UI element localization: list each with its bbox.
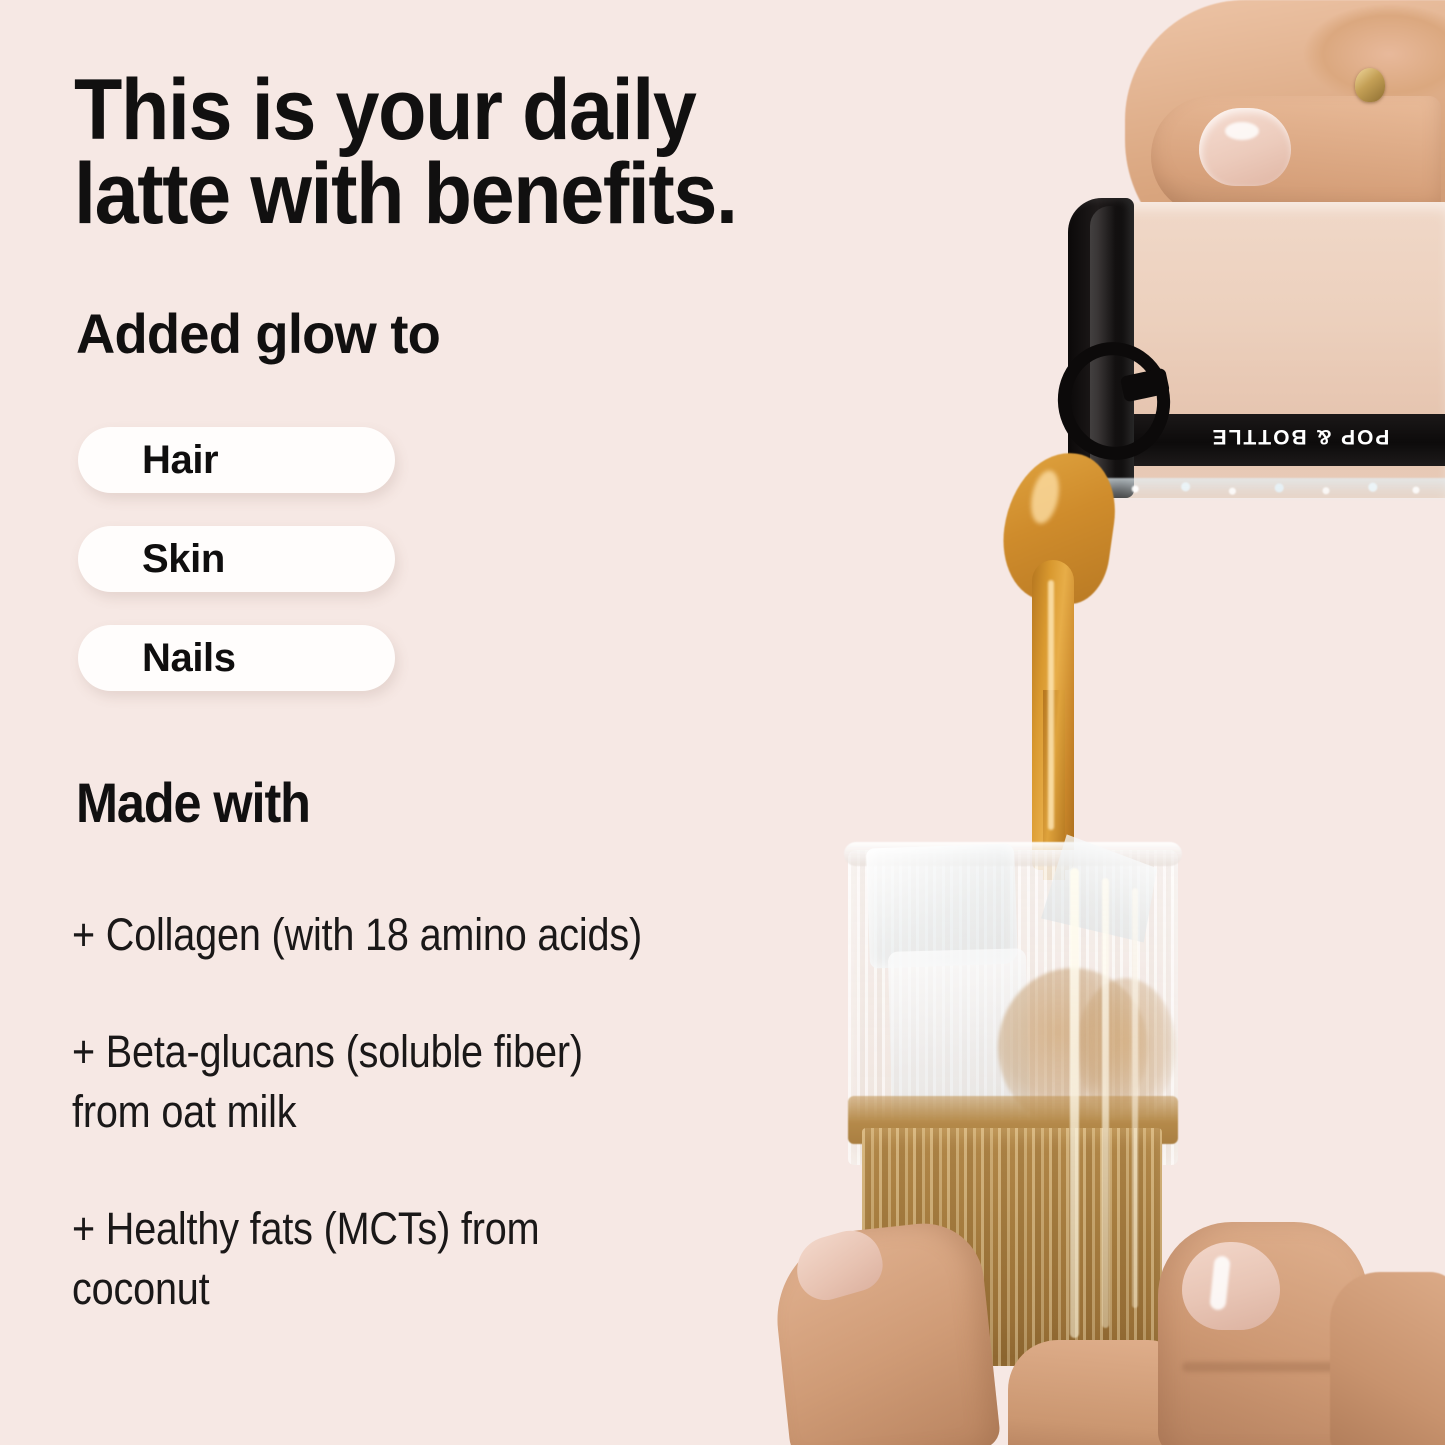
product-photo: POP & BOTTLE xyxy=(760,0,1445,1445)
can-brand-label: POP & BOTTLE xyxy=(1170,424,1430,448)
benefit-pill-label: Skin xyxy=(142,537,225,582)
ingredient-list: + Collagen (with 18 amino acids) + Beta-… xyxy=(72,905,792,1376)
ingredient-item-healthy-fats: + Healthy fats (MCTs) from coconut xyxy=(72,1199,706,1318)
fingernail-highlight xyxy=(1225,122,1259,140)
holding-hand-thumbnail xyxy=(1182,1242,1280,1330)
holding-hand xyxy=(770,1212,1410,1445)
holding-hand-finger xyxy=(1330,1272,1445,1445)
made-with-heading: Made with xyxy=(76,775,310,831)
benefit-pill-label: Hair xyxy=(142,438,218,483)
product-can: POP & BOTTLE xyxy=(1050,196,1445,506)
ingredient-item-collagen: + Collagen (with 18 amino acids) xyxy=(72,905,706,964)
benefit-pill-nails[interactable]: Nails xyxy=(78,625,395,691)
ingredient-item-beta-glucans: + Beta-glucans (soluble fiber) from oat … xyxy=(72,1022,706,1141)
page-title: This is your daily latte with benefits. xyxy=(74,68,810,237)
pouring-hand-fingernail xyxy=(1199,108,1291,186)
can-condensation xyxy=(1092,478,1445,500)
pour-stream-shine xyxy=(1048,580,1054,830)
benefit-pill-list: Hair Skin Nails xyxy=(78,427,408,724)
benefit-pill-label: Nails xyxy=(142,636,236,681)
gold-ring-icon xyxy=(1355,68,1385,102)
benefit-pill-hair[interactable]: Hair xyxy=(78,427,395,493)
product-marketing-card: This is your daily latte with benefits. … xyxy=(0,0,1445,1445)
added-glow-heading: Added glow to xyxy=(76,306,440,362)
benefit-pill-skin[interactable]: Skin xyxy=(78,526,395,592)
knuckle-crease xyxy=(1182,1362,1342,1372)
